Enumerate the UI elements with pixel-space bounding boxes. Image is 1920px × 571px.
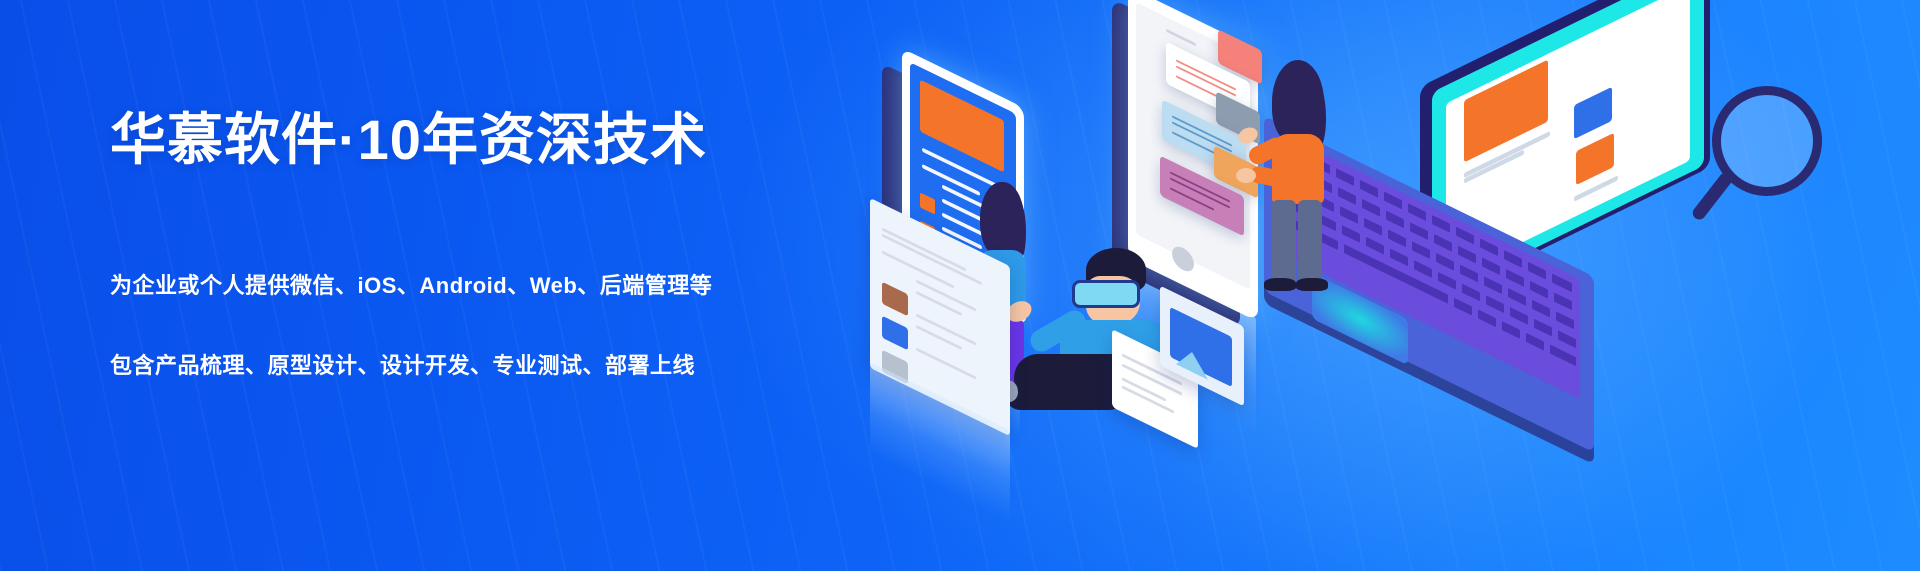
search-icon (1712, 86, 1822, 196)
person-reviewer (1256, 56, 1366, 296)
subtitle-line-1: 为企业或个人提供微信、iOS、Android、Web、后端管理等 (110, 268, 870, 300)
copy-block: 华慕软件·10年资深技术 为企业或个人提供微信、iOS、Android、Web、… (110, 112, 870, 380)
subtitle-line-2: 包含产品梳理、原型设计、设计开发、专业测试、部署上线 (110, 348, 870, 380)
page-title: 华慕软件·10年资深技术 (110, 112, 870, 168)
vr-headset-icon (1072, 280, 1140, 308)
hero-banner: 华慕软件·10年资深技术 为企业或个人提供微信、iOS、Android、Web、… (0, 0, 1920, 571)
hero-illustration (860, 0, 1920, 571)
